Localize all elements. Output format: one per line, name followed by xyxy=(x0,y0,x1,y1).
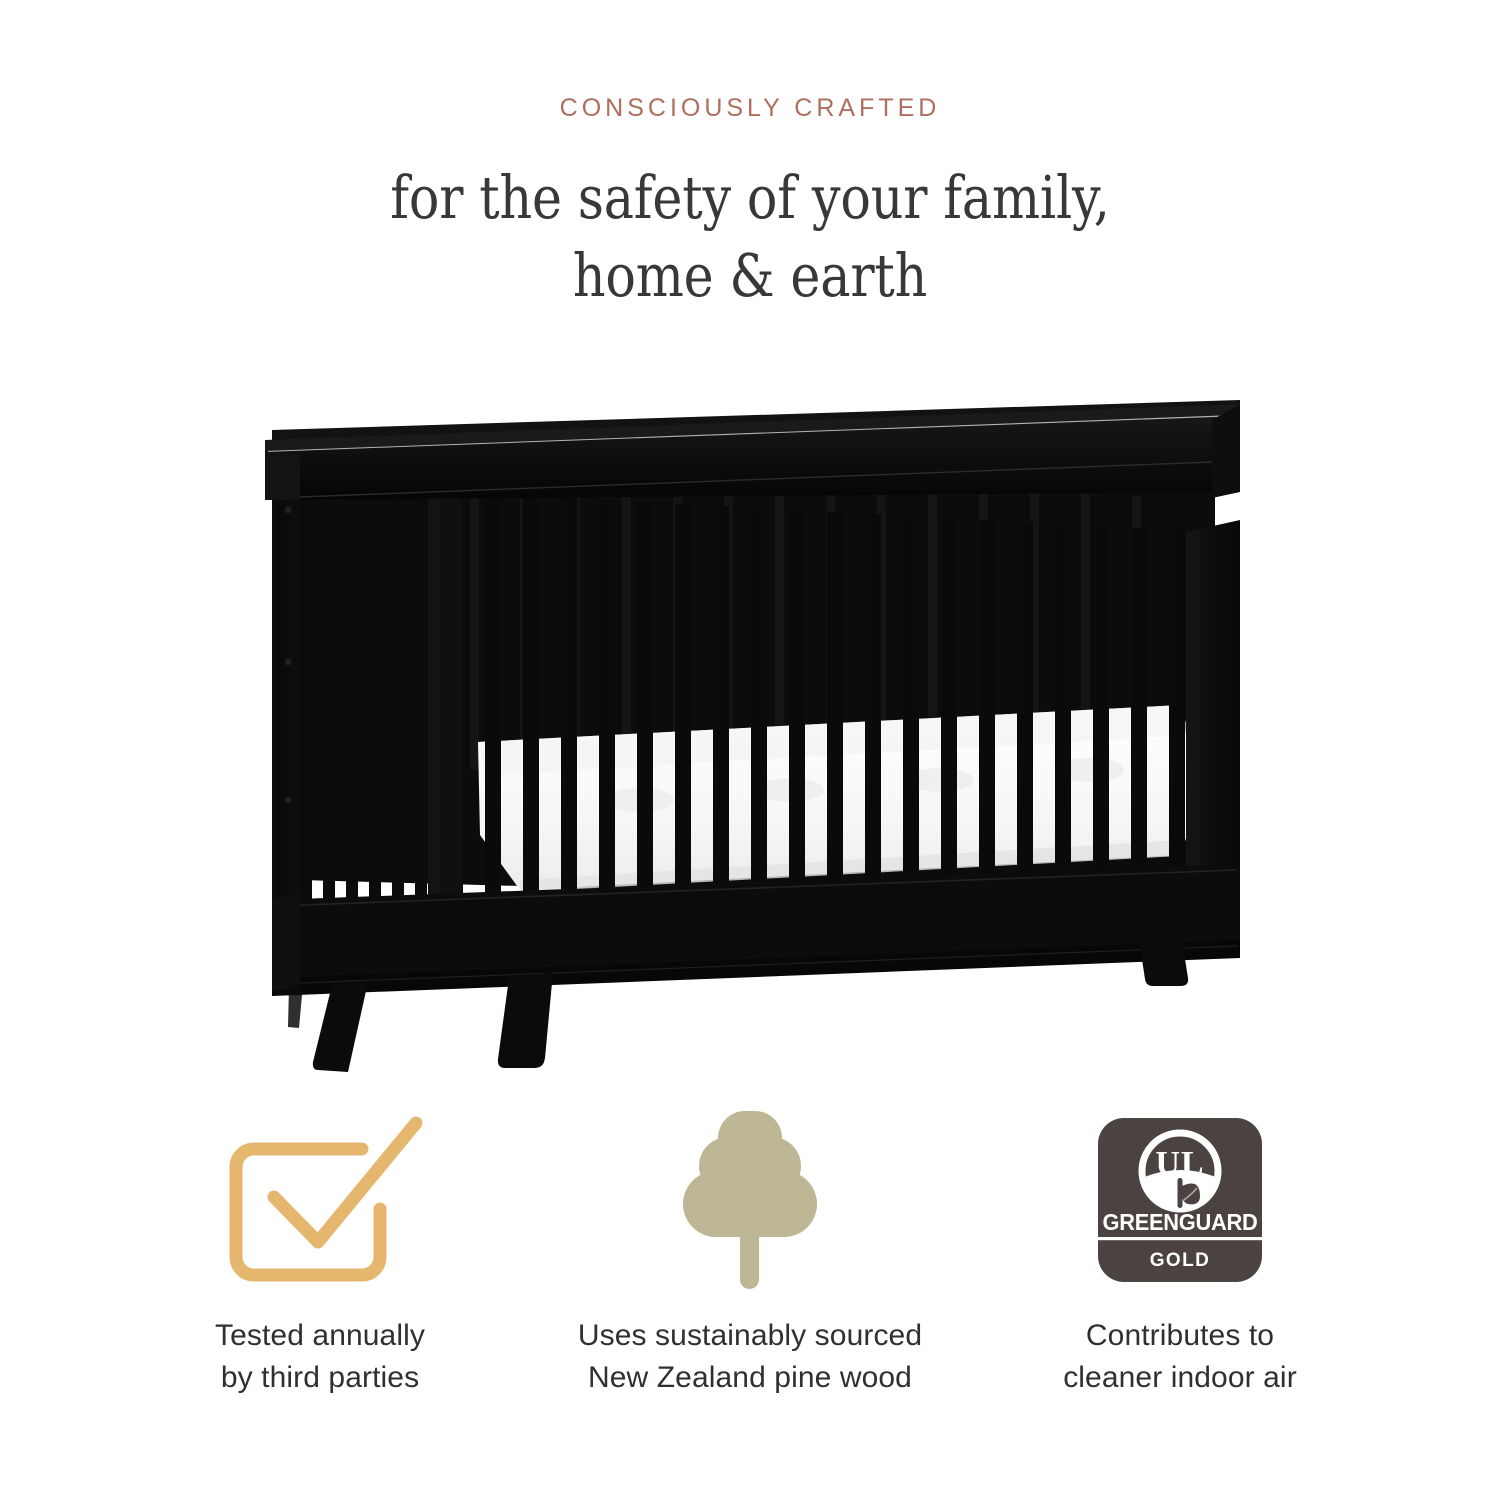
eyebrow-text: CONSCIOUSLY CRAFTED xyxy=(0,96,1500,121)
crib-right-end-panel xyxy=(1186,520,1240,952)
feature-caption: Contributes to cleaner indoor air xyxy=(1063,1315,1297,1399)
greenguard-gold-badge-icon: UL GREENGUARD GOLD xyxy=(1096,1116,1264,1289)
crib-top-rail xyxy=(265,400,1240,500)
feature-sustainable-wood: Uses sustainably sourced New Zealand pin… xyxy=(535,1110,965,1399)
feature-caption-line-2: by third parties xyxy=(215,1357,425,1399)
crib-front-slats xyxy=(447,492,1185,944)
crib-legs xyxy=(288,902,1188,1072)
feature-caption: Uses sustainably sourced New Zealand pin… xyxy=(578,1315,922,1399)
page-title: for the safety of your family, home & ea… xyxy=(105,159,1395,315)
crib-far-slats xyxy=(470,470,1141,796)
feature-caption: Tested annually by third parties xyxy=(215,1315,425,1399)
feature-caption-line-1: Uses sustainably sourced xyxy=(578,1315,922,1357)
marketing-image: CONSCIOUSLY CRAFTED for the safety of yo… xyxy=(0,0,1500,1500)
feature-icon-wrap: UL GREENGUARD GOLD xyxy=(1096,1110,1264,1295)
feature-icon-wrap xyxy=(212,1110,428,1295)
svg-text:UL: UL xyxy=(1155,1145,1204,1182)
tree-icon xyxy=(675,1109,825,1296)
checkbox-check-icon xyxy=(212,1105,428,1300)
feature-tested-annually: Tested annually by third parties xyxy=(105,1110,535,1399)
feature-caption-line-1: Contributes to xyxy=(1063,1315,1297,1357)
header: CONSCIOUSLY CRAFTED for the safety of yo… xyxy=(0,0,1500,315)
feature-greenguard-gold: UL GREENGUARD GOLD Contributes to xyxy=(965,1110,1395,1399)
headline-line-1: for the safety of your family, xyxy=(105,159,1395,237)
crib-base-rail xyxy=(272,864,1240,996)
greenguard-title: GREENGUARD xyxy=(1103,1209,1258,1235)
greenguard-level: GOLD xyxy=(1150,1250,1211,1271)
crib-far-panel xyxy=(300,455,1215,905)
headline-line-2: home & earth xyxy=(105,237,1395,315)
crib-left-end-panel xyxy=(272,452,462,935)
crib-mattress xyxy=(478,705,1200,892)
feature-caption-line-2: New Zealand pine wood xyxy=(578,1357,922,1399)
feature-icon-wrap xyxy=(675,1110,825,1295)
feature-caption-line-1: Tested annually xyxy=(215,1315,425,1357)
feature-row: Tested annually by third parties xyxy=(0,1110,1500,1399)
feature-caption-line-2: cleaner indoor air xyxy=(1063,1357,1297,1399)
